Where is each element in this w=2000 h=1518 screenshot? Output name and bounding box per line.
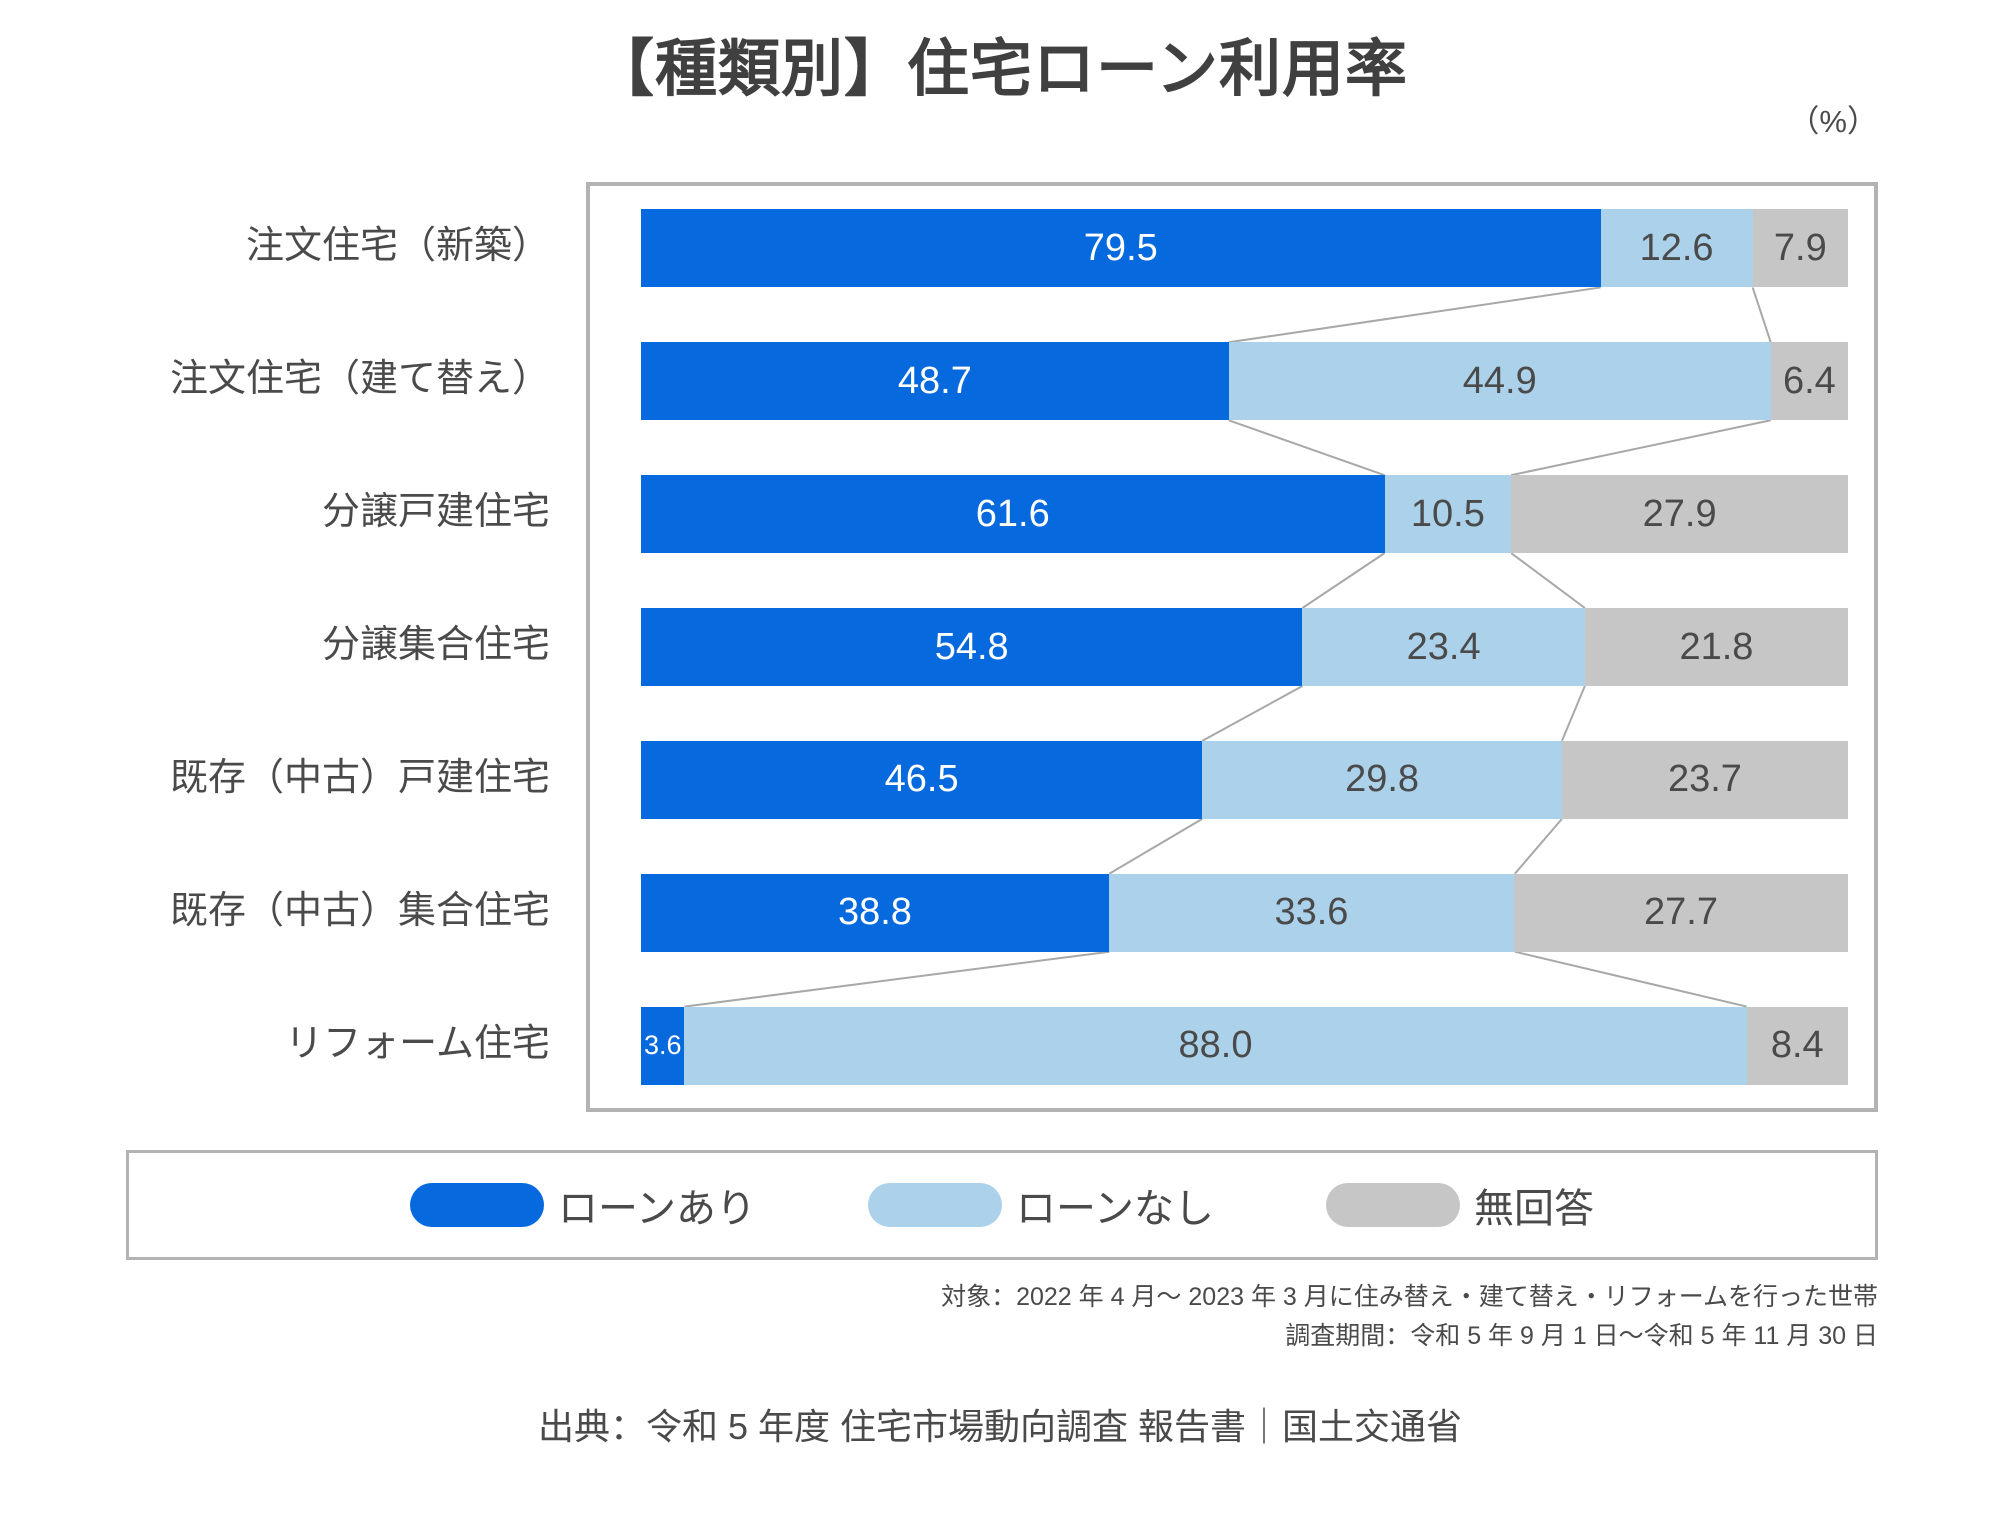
bar-row: 46.529.823.7 [641, 741, 1848, 819]
bar-segment-noanswer: 6.4 [1771, 342, 1848, 420]
legend-swatch-loan [410, 1183, 544, 1227]
bar-row: 48.744.96.4 [641, 342, 1848, 420]
bar-value-label: 23.4 [1407, 626, 1481, 669]
bar-segment-noloan: 29.8 [1202, 741, 1562, 819]
footnote-line: 対象：2022 年 4 月〜 2023 年 3 月に住み替え・建て替え・リフォー… [678, 1278, 1878, 1317]
bar-value-label: 29.8 [1345, 758, 1419, 801]
bar-segment-noanswer: 23.7 [1562, 741, 1848, 819]
bar-value-label: 46.5 [885, 758, 959, 801]
footnotes: 対象：2022 年 4 月〜 2023 年 3 月に住み替え・建て替え・リフォー… [678, 1278, 1878, 1356]
bar-value-label: 54.8 [935, 626, 1009, 669]
bar-value-label: 48.7 [898, 360, 972, 403]
bar-value-label: 21.8 [1679, 626, 1753, 669]
bar-value-label: 3.6 [644, 1030, 682, 1061]
category-label: 分譲戸建住宅 [60, 493, 550, 531]
bar-segment-loan: 46.5 [641, 741, 1202, 819]
category-axis-labels: 注文住宅（新築）注文住宅（建て替え）分譲戸建住宅分譲集合住宅既存（中古）戸建住宅… [60, 182, 560, 1112]
bar-segment-noloan: 88.0 [684, 1007, 1746, 1085]
bar-segment-loan: 48.7 [641, 342, 1229, 420]
bar-segment-noloan: 33.6 [1109, 874, 1514, 952]
bar-value-label: 8.4 [1771, 1024, 1824, 1067]
bar-segment-noloan: 23.4 [1302, 608, 1584, 686]
bar-row: 38.833.627.7 [641, 874, 1848, 952]
footnote-line: 調査期間：令和 5 年 9 月 1 日〜令和 5 年 11 月 30 日 [678, 1317, 1878, 1356]
bar-value-label: 38.8 [838, 891, 912, 934]
legend-label: ローンあり [558, 1176, 756, 1234]
bar-segment-noanswer: 8.4 [1747, 1007, 1848, 1085]
bar-value-label: 61.6 [976, 493, 1050, 536]
legend-item: 無回答 [1326, 1176, 1594, 1234]
legend-item: ローンなし [868, 1176, 1214, 1234]
bar-segment-noloan: 12.6 [1601, 209, 1753, 287]
bar-value-label: 79.5 [1084, 227, 1158, 270]
legend-swatch-noloan [868, 1183, 1002, 1227]
bar-segment-noanswer: 27.7 [1514, 874, 1848, 952]
bar-segment-noanswer: 7.9 [1753, 209, 1848, 287]
bar-segment-noanswer: 27.9 [1511, 475, 1848, 553]
bar-segment-loan: 38.8 [641, 874, 1109, 952]
bar-value-label: 12.6 [1640, 227, 1714, 270]
bar-segment-loan: 79.5 [641, 209, 1601, 287]
bar-segment-loan: 61.6 [641, 475, 1385, 553]
bar-value-label: 27.9 [1643, 493, 1717, 536]
bar-value-label: 27.7 [1644, 891, 1718, 934]
bar-value-label: 23.7 [1668, 758, 1742, 801]
bar-value-label: 33.6 [1274, 891, 1348, 934]
bar-segment-noanswer: 21.8 [1585, 608, 1848, 686]
bar-row: 79.512.67.9 [641, 209, 1848, 287]
bar-segment-noloan: 44.9 [1229, 342, 1771, 420]
bar-segment-loan: 3.6 [641, 1007, 684, 1085]
category-label: 注文住宅（新築） [60, 227, 550, 265]
legend-swatch-noanswer [1326, 1183, 1460, 1227]
bar-row: 61.610.527.9 [641, 475, 1848, 553]
category-label: 既存（中古）戸建住宅 [60, 759, 550, 797]
stacked-bars: 79.512.67.948.744.96.461.610.527.954.823… [641, 182, 1848, 1112]
bar-row: 3.688.08.4 [641, 1007, 1848, 1085]
category-label: 既存（中古）集合住宅 [60, 892, 550, 930]
bar-value-label: 6.4 [1783, 360, 1836, 403]
category-label: リフォーム住宅 [60, 1025, 550, 1063]
bar-segment-loan: 54.8 [641, 608, 1302, 686]
bar-value-label: 44.9 [1463, 360, 1537, 403]
legend-label: 無回答 [1474, 1176, 1594, 1234]
legend-item: ローンあり [410, 1176, 756, 1234]
bar-value-label: 7.9 [1774, 227, 1827, 270]
page-title: 【種類別】住宅ローン利用率 [0, 36, 2000, 104]
bar-row: 54.823.421.8 [641, 608, 1848, 686]
legend: ローンありローンなし無回答 [126, 1150, 1878, 1260]
bar-value-label: 88.0 [1179, 1024, 1253, 1067]
category-label: 分譲集合住宅 [60, 626, 550, 664]
bar-value-label: 10.5 [1411, 493, 1485, 536]
bar-segment-noloan: 10.5 [1385, 475, 1512, 553]
axis-unit-label: （%） [1788, 96, 1878, 141]
legend-label: ローンなし [1016, 1176, 1214, 1234]
source-credit: 出典：令和 5 年度 住宅市場動向調査 報告書｜国土交通省 [0, 1398, 2000, 1450]
category-label: 注文住宅（建て替え） [60, 360, 550, 398]
